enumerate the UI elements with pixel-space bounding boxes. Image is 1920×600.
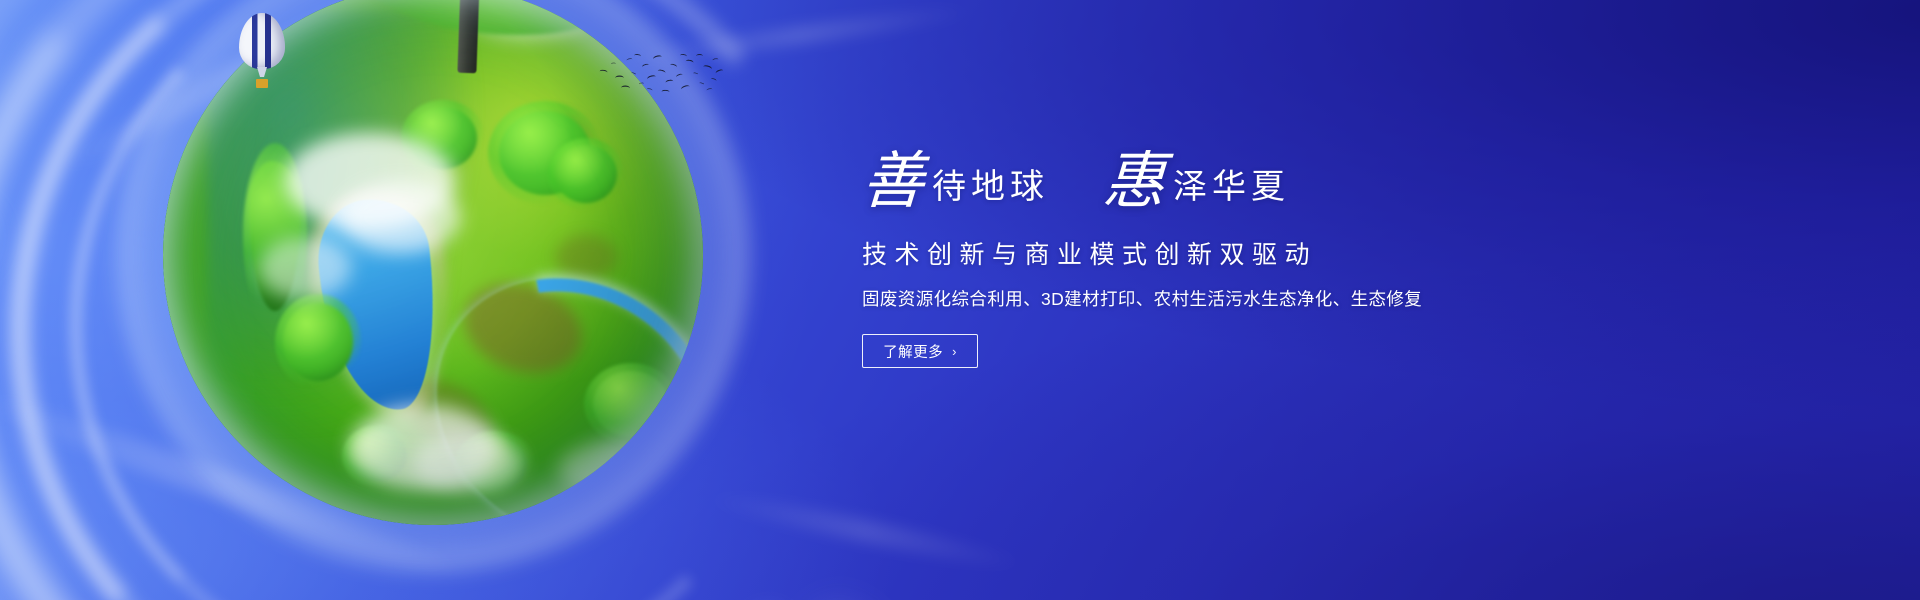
bird-icon xyxy=(706,88,712,92)
bird-icon xyxy=(710,77,717,82)
bird-icon xyxy=(693,72,698,76)
headline-small-text-1: 待地球 xyxy=(932,168,1049,214)
bird-icon xyxy=(685,59,694,65)
bird-icon xyxy=(611,63,616,66)
bird-icon xyxy=(653,54,663,61)
balloon-neck xyxy=(257,67,267,77)
bird-icon xyxy=(621,85,630,90)
bird-icon xyxy=(657,69,666,75)
banner-description: 固废资源化综合利用、3D建材打印、农村生活污水生态净化、生态修复 xyxy=(862,287,1562,311)
learn-more-label: 了解更多 xyxy=(883,341,943,362)
bird-icon xyxy=(647,74,657,81)
learn-more-button[interactable]: 了解更多 › xyxy=(862,334,978,368)
bird-icon xyxy=(639,82,644,85)
balloon-envelope xyxy=(239,13,285,69)
bird-icon xyxy=(626,58,632,62)
bird-icon xyxy=(661,90,669,95)
bird-icon xyxy=(712,58,718,62)
bird-icon xyxy=(670,63,678,69)
headline-big-char-2: 惠 xyxy=(1101,150,1166,214)
banner-copy: 善 待地球 惠 泽华夏 技术创新与商业模式创新双驱动 固废资源化综合利用、3D建… xyxy=(862,138,1562,368)
headline-big-char-1: 善 xyxy=(860,150,925,214)
bird-icon xyxy=(642,63,650,69)
bird-icon xyxy=(696,54,703,58)
chevron-right-icon: › xyxy=(952,345,957,358)
bird-icon xyxy=(676,73,684,79)
hero-banner: 善 待地球 惠 泽华夏 技术创新与商业模式创新双驱动 固废资源化综合利用、3D建… xyxy=(0,0,1920,600)
bird-icon xyxy=(631,72,637,76)
bird-icon xyxy=(715,69,724,76)
bird-flock-icon xyxy=(596,52,726,96)
hot-air-balloon-icon xyxy=(239,13,285,91)
bird-icon xyxy=(699,82,704,86)
bird-icon xyxy=(646,88,652,92)
banner-subtitle: 技术创新与商业模式创新双驱动 xyxy=(862,240,1562,270)
bird-icon xyxy=(634,54,641,59)
balloon-basket xyxy=(256,79,268,88)
bird-icon xyxy=(665,79,674,85)
bird-icon xyxy=(703,64,713,71)
bird-icon xyxy=(680,84,690,92)
headline-small-text-2: 泽华夏 xyxy=(1173,168,1290,214)
bird-icon xyxy=(599,69,607,75)
page-title: 善 待地球 惠 泽华夏 xyxy=(862,138,1562,214)
bird-icon xyxy=(680,54,687,59)
bird-icon xyxy=(615,75,624,80)
